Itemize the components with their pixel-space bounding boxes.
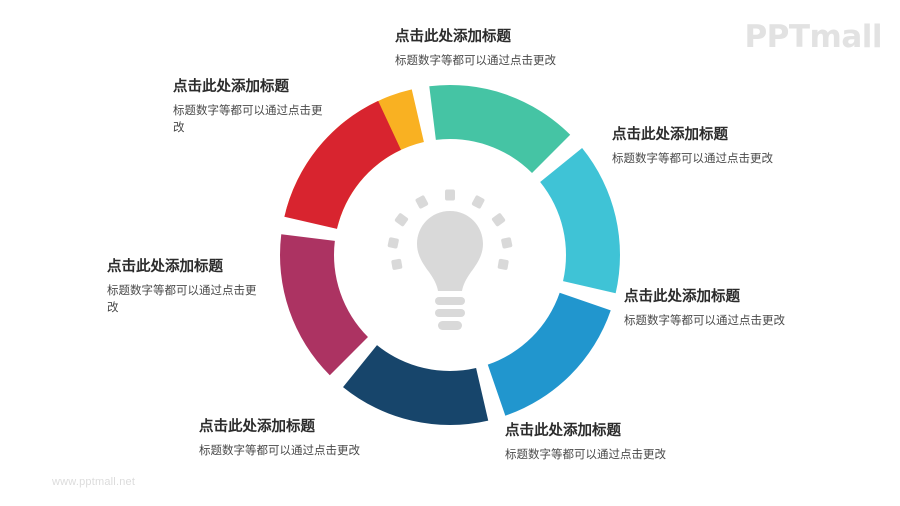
callout-top-left-title: 点击此处添加标题 — [173, 78, 329, 98]
callout-bottom-left[interactable]: 点击此处添加标题 标题数字等都可以通过点击更改 — [199, 418, 360, 460]
callout-right-lower[interactable]: 点击此处添加标题 标题数字等都可以通过点击更改 — [624, 288, 785, 330]
callout-bottom-left-title: 点击此处添加标题 — [199, 418, 360, 438]
bulb-ray-8 — [391, 259, 403, 271]
bulb-ray-6 — [387, 237, 399, 249]
callout-left-title: 点击此处添加标题 — [107, 258, 263, 278]
callout-top-desc: 标题数字等都可以通过点击更改 — [395, 53, 556, 71]
callout-top-left-desc: 标题数字等都可以通过点击更改 — [173, 103, 329, 139]
callout-top-title: 点击此处添加标题 — [395, 28, 556, 48]
bulb-ray-7 — [497, 259, 509, 271]
pptmall-logo: PPTmall — [744, 22, 882, 53]
callout-left-desc: 标题数字等都可以通过点击更改 — [107, 283, 263, 319]
callout-right-lower-desc: 标题数字等都可以通过点击更改 — [624, 313, 785, 331]
bulb-ray-5 — [501, 237, 513, 249]
footer-url: www.pptmall.net — [52, 476, 135, 488]
callout-left[interactable]: 点击此处添加标题 标题数字等都可以通过点击更改 — [107, 258, 263, 318]
callout-right-upper-desc: 标题数字等都可以通过点击更改 — [612, 151, 773, 169]
callout-bottom-right[interactable]: 点击此处添加标题 标题数字等都可以通过点击更改 — [505, 422, 666, 464]
callout-right-upper[interactable]: 点击此处添加标题 标题数字等都可以通过点击更改 — [612, 126, 773, 168]
callout-bottom-left-desc: 标题数字等都可以通过点击更改 — [199, 443, 360, 461]
callout-right-upper-title: 点击此处添加标题 — [612, 126, 773, 146]
callout-bottom-right-title: 点击此处添加标题 — [505, 422, 666, 442]
callout-bottom-right-desc: 标题数字等都可以通过点击更改 — [505, 447, 666, 465]
callout-right-lower-title: 点击此处添加标题 — [624, 288, 785, 308]
callout-top-left[interactable]: 点击此处添加标题 标题数字等都可以通过点击更改 — [173, 78, 329, 138]
bulb-ray-0 — [445, 190, 455, 201]
callout-top[interactable]: 点击此处添加标题 标题数字等都可以通过点击更改 — [395, 28, 556, 70]
slide-canvas: PPTmall 点击此处添加标题 标题数字等都可以通过点击更改 点击此处添 — [0, 0, 900, 506]
